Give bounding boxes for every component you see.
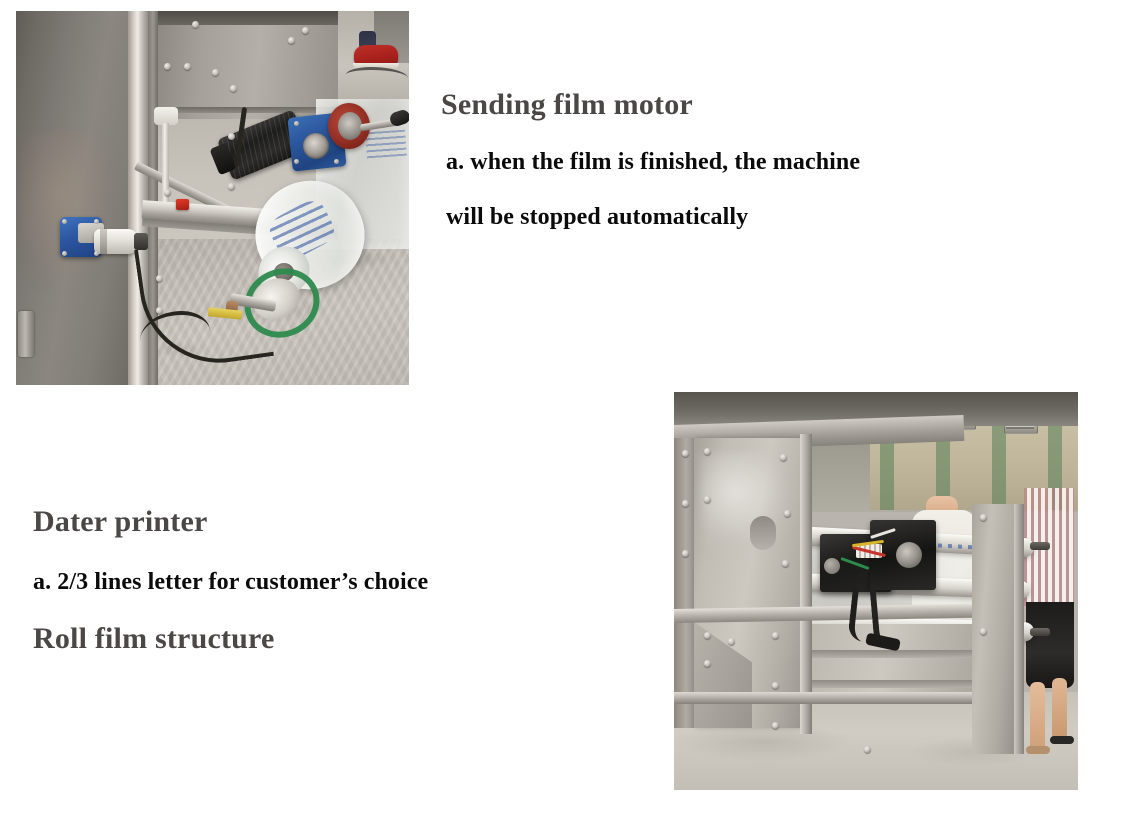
dater-printer-heading: Dater printer <box>33 505 208 539</box>
horizontal-frame-rail <box>674 692 1022 704</box>
red-button-icon <box>176 199 189 210</box>
drive-wheel-face <box>338 112 362 140</box>
frame-bolt <box>228 133 235 140</box>
gearbox-bolt <box>294 159 299 164</box>
frame-bolt <box>192 21 199 28</box>
frame-bolt <box>212 69 219 76</box>
frame-post-right <box>972 504 1018 754</box>
roll-film-structure-photo <box>674 392 1078 790</box>
frame-bolt <box>156 275 163 282</box>
frame-bolt <box>772 722 779 729</box>
frame-bolt <box>230 85 237 92</box>
power-plug-ring <box>100 229 107 254</box>
machine-body-seam <box>158 107 338 113</box>
film-wrap-printing <box>365 130 407 159</box>
side-plate-slot <box>750 516 776 550</box>
socket-bolt <box>94 251 99 256</box>
roller-shaft-end <box>1030 542 1050 550</box>
sending-film-motor-photo <box>16 11 409 385</box>
dater-printer-wheel <box>896 542 922 568</box>
background-person-leg <box>1030 682 1045 752</box>
socket-bolt <box>94 219 99 224</box>
machine-top-edge <box>158 11 338 25</box>
frame-bolt <box>302 27 309 34</box>
frame-bolt <box>704 632 711 639</box>
frame-bolt <box>728 638 735 645</box>
frame-bolt <box>704 448 711 455</box>
panel-reflection <box>20 131 120 291</box>
background-person-skirt <box>1026 602 1074 688</box>
frame-bolt <box>782 560 789 567</box>
frame-bolt <box>780 454 787 461</box>
frame-bolt <box>184 63 191 70</box>
frame-bolt <box>704 496 711 503</box>
frame-post-right-edge <box>1014 504 1024 754</box>
frame-bolt <box>682 550 689 557</box>
background-person-foot <box>1026 746 1050 754</box>
frame-bolt <box>164 189 171 196</box>
frame-bolt <box>980 514 987 521</box>
side-plate-edge <box>800 434 812 734</box>
frame-bolt <box>772 632 779 639</box>
background-person-leg <box>1052 678 1067 740</box>
frame-bolt <box>704 660 711 667</box>
gearbox-output-hub <box>303 133 329 159</box>
frame-bolt <box>164 63 171 70</box>
gearbox-bolt <box>334 159 339 164</box>
dater-printer-adjust-knob[interactable] <box>824 558 840 574</box>
background-person-sandal <box>1050 736 1074 744</box>
frame-bolt <box>980 628 987 635</box>
frame-bolt <box>784 510 791 517</box>
socket-bolt <box>62 251 67 256</box>
door-hinge <box>18 311 34 357</box>
roller-shaft-end <box>1030 628 1050 636</box>
frame-bolt <box>682 500 689 507</box>
gearbox-bolt <box>294 121 299 126</box>
sending-film-motor-line-2: will be stopped automatically <box>446 204 748 231</box>
frame-bolt <box>288 37 295 44</box>
socket-bolt <box>62 219 67 224</box>
roll-film-structure-heading: Roll film structure <box>33 622 275 656</box>
sending-film-motor-heading: Sending film motor <box>441 88 693 122</box>
frame-bolt <box>772 682 779 689</box>
dater-printer-line-1: a. 2/3 lines letter for customer’s choic… <box>33 569 428 596</box>
frame-bolt <box>228 183 235 190</box>
frame-bolt <box>682 450 689 457</box>
side-plate-reflection <box>700 452 798 552</box>
sending-film-motor-line-1: a. when the film is finished, the machin… <box>446 149 860 176</box>
frame-bolt <box>156 307 163 314</box>
frame-bolt <box>864 746 871 753</box>
